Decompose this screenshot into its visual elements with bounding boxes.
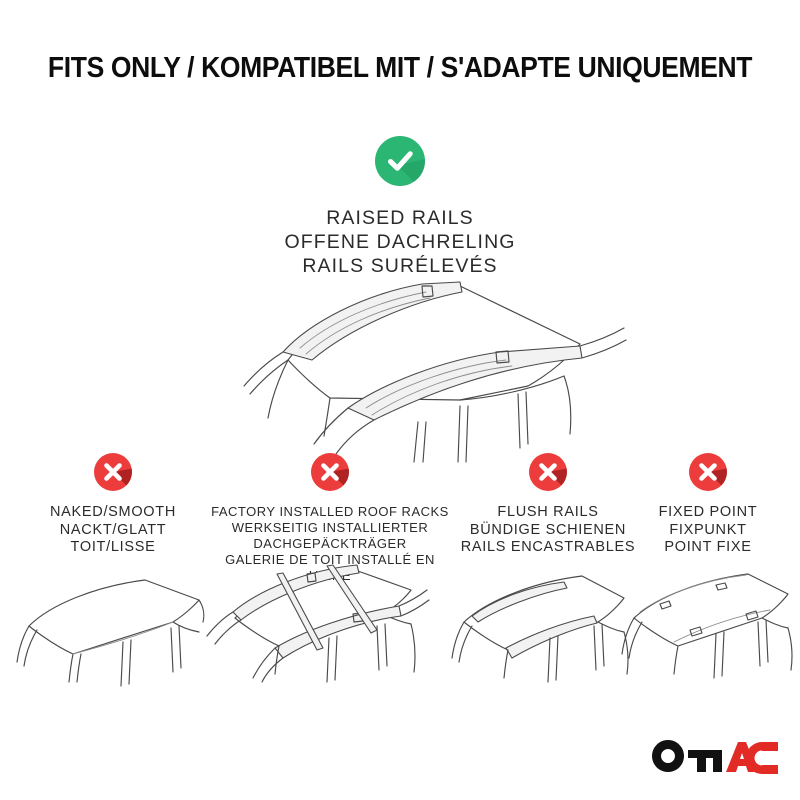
car-roof-bare-illustration <box>13 568 213 688</box>
incompatible-section: NAKED/SMOOTH NACKT/GLATT TOIT/LISSE <box>0 450 800 700</box>
incompatible-labels-naked-smooth: NAKED/SMOOTH NACKT/GLATT TOIT/LISSE <box>13 504 213 557</box>
label-en: FIXED POINT <box>628 504 788 522</box>
label-de: FIXPUNKT <box>628 522 788 540</box>
label-fr: POINT FIXE <box>628 539 788 557</box>
car-roof-raised-rails-illustration <box>160 272 660 462</box>
car-roof-factory-crossbars-illustration <box>205 562 455 682</box>
compatible-label-de: OFFENE DACHRELING <box>0 230 800 254</box>
cross-circle-icon <box>308 450 352 494</box>
incompatible-item-naked-smooth: NAKED/SMOOTH NACKT/GLATT TOIT/LISSE <box>13 450 213 557</box>
label-de-2: DACHGEPÄCKTRÄGER <box>205 536 455 552</box>
label-de: NACKT/GLATT <box>13 522 213 540</box>
compatible-section: RAISED RAILS OFFENE DACHRELING RAILS SUR… <box>0 132 800 278</box>
car-roof-flush-rails-illustration <box>448 568 648 688</box>
label-en: NAKED/SMOOTH <box>13 504 213 522</box>
incompatible-item-flush-rails: FLUSH RAILS BÜNDIGE SCHIENEN RAILS ENCAS… <box>448 450 648 557</box>
car-roof-fixed-points-illustration <box>620 568 788 688</box>
label-en: FLUSH RAILS <box>448 504 648 522</box>
compatibility-infographic: FITS ONLY / KOMPATIBEL MIT / S'ADAPTE UN… <box>0 0 800 800</box>
compatible-labels: RAISED RAILS OFFENE DACHRELING RAILS SUR… <box>0 206 800 278</box>
check-circle-icon <box>371 132 429 190</box>
incompatible-labels-fixed-point: FIXED POINT FIXPUNKT POINT FIXE <box>628 504 788 557</box>
label-de: BÜNDIGE SCHIENEN <box>448 522 648 540</box>
incompatible-item-fixed-point: FIXED POINT FIXPUNKT POINT FIXE <box>628 450 788 557</box>
compatible-label-en: RAISED RAILS <box>0 206 800 230</box>
label-fr: TOIT/LISSE <box>13 539 213 557</box>
cross-circle-icon <box>91 450 135 494</box>
page-title: FITS ONLY / KOMPATIBEL MIT / S'ADAPTE UN… <box>28 52 772 85</box>
incompatible-labels-flush-rails: FLUSH RAILS BÜNDIGE SCHIENEN RAILS ENCAS… <box>448 504 648 557</box>
cross-circle-icon <box>686 450 730 494</box>
label-fr: RAILS ENCASTRABLES <box>448 539 648 557</box>
label-de-1: WERKSEITIG INSTALLIERTER <box>205 520 455 536</box>
omac-logo: OMAC <box>650 738 778 778</box>
cross-circle-icon <box>526 450 570 494</box>
label-en: FACTORY INSTALLED ROOF RACKS <box>205 504 455 520</box>
incompatible-item-factory-racks: FACTORY INSTALLED ROOF RACKS WERKSEITIG … <box>205 450 455 584</box>
